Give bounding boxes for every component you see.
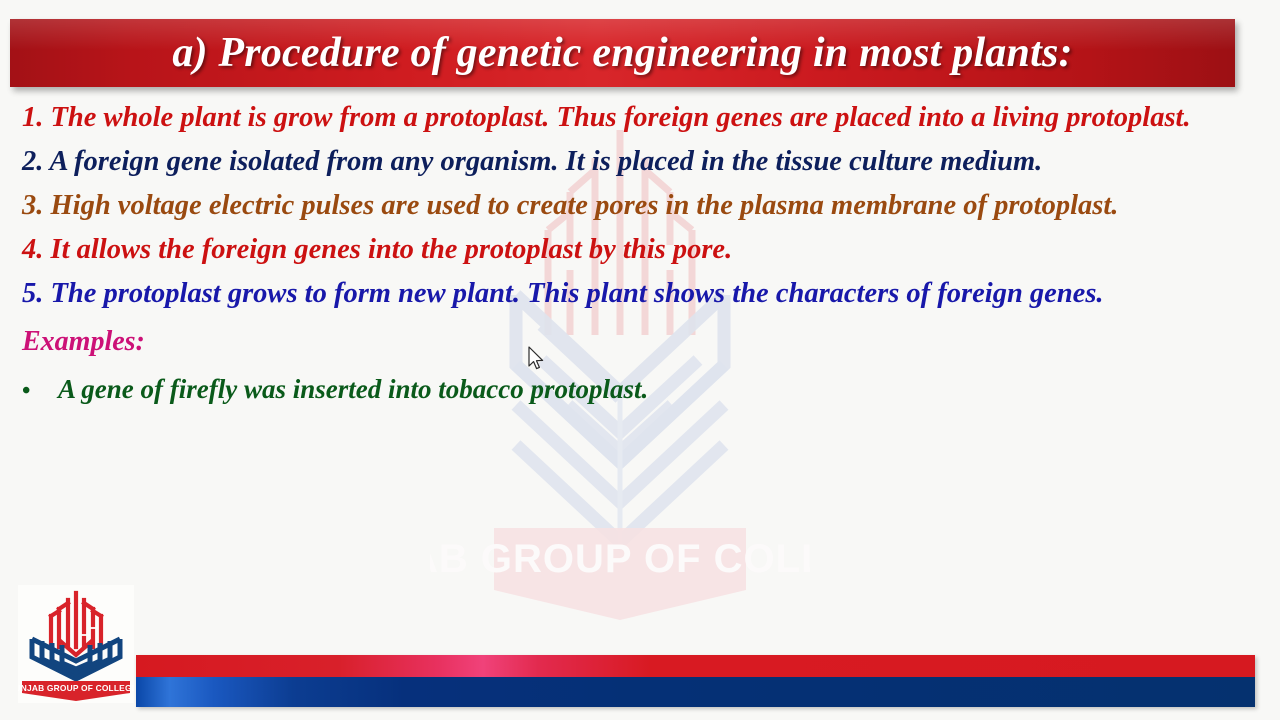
bullet-dot-icon: •	[22, 371, 58, 411]
point-1: 1. The whole plant is grow from a protop…	[22, 96, 1247, 139]
footer-bar-red	[136, 655, 1255, 677]
point-5: 5. The protoplast grows to form new plan…	[22, 272, 1247, 315]
slide-canvas: PUNJAB GROUP OF COLLEGES a) Procedure of…	[0, 0, 1280, 720]
examples-label: Examples:	[22, 321, 1247, 363]
slide-body: 1. The whole plant is grow from a protop…	[22, 96, 1247, 411]
slide-title-banner: a) Procedure of genetic engineering in m…	[10, 19, 1235, 87]
page-title: a) Procedure of genetic engineering in m…	[172, 29, 1072, 77]
point-4: 4. It allows the foreign genes into the …	[22, 228, 1247, 271]
watermark-banner-text: PUNJAB GROUP OF COLLEGES	[430, 537, 810, 581]
logo-banner-text: PUNJAB GROUP OF COLLEGES	[18, 683, 134, 693]
punjab-group-of-colleges-logo: PUNJAB GROUP OF COLLEGES	[18, 585, 134, 703]
example-item-text: A gene of firefly was inserted into toba…	[58, 369, 1247, 409]
footer-bars	[136, 655, 1255, 707]
footer-bar-blue	[136, 677, 1255, 707]
point-2: 2. A foreign gene isolated from any orga…	[22, 140, 1247, 183]
list-item: • A gene of firefly was inserted into to…	[22, 369, 1247, 411]
point-3: 3. High voltage electric pulses are used…	[22, 184, 1247, 227]
